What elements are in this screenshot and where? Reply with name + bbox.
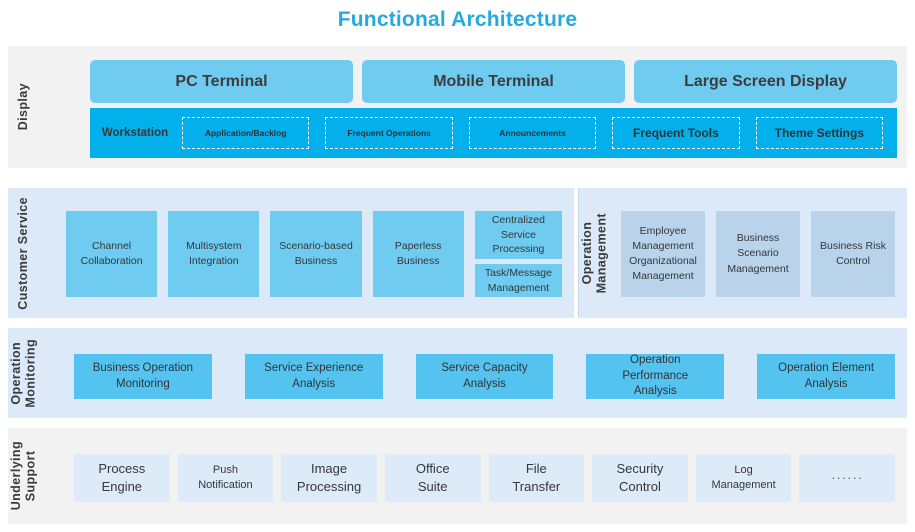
cs-box-centralized-service-processing[interactable]: Centralized ServiceProcessing xyxy=(475,211,562,259)
section-label-customer-service-text: Customer Service xyxy=(16,197,30,310)
section-label-operation-management-text: OperationManagement xyxy=(580,213,609,293)
workstation-item-application-backlog[interactable]: Application/Backlog xyxy=(182,117,309,149)
sup-box-file-transfer[interactable]: FileTransfer xyxy=(489,454,585,502)
om-box-business-scenario-management[interactable]: BusinessScenarioManagement xyxy=(716,211,800,297)
operation-monitoring-row: Business OperationMonitoring Service Exp… xyxy=(74,354,895,399)
section-customer-service: Customer Service ChannelCollaboration Mu… xyxy=(8,188,574,318)
cs-box-task-message-management[interactable]: Task/MessageManagement xyxy=(475,264,562,297)
terminal-row: PC Terminal Mobile Terminal Large Screen… xyxy=(90,60,897,103)
mon-box-business-operation-monitoring[interactable]: Business OperationMonitoring xyxy=(74,354,212,399)
section-customer-service-body: ChannelCollaboration MultisystemIntegrat… xyxy=(38,188,574,318)
section-label-customer-service: Customer Service xyxy=(8,188,38,318)
cs-box-paperless-business[interactable]: PaperlessBusiness xyxy=(373,211,464,297)
section-underlying-support-body: ProcessEngine PushNotification ImageProc… xyxy=(38,428,907,524)
workstation-item-frequent-operations[interactable]: Frequent Operations xyxy=(325,117,452,149)
section-operation-monitoring-body: Business OperationMonitoring Service Exp… xyxy=(38,328,907,418)
mon-box-operation-element-analysis[interactable]: Operation ElementAnalysis xyxy=(757,354,895,399)
terminal-box-large-screen[interactable]: Large Screen Display xyxy=(634,60,897,103)
section-label-underlying-support: UnderlyingSupport xyxy=(8,428,38,524)
underlying-support-row: ProcessEngine PushNotification ImageProc… xyxy=(74,454,895,502)
sup-box-office-suite[interactable]: OfficeSuite xyxy=(385,454,481,502)
section-underlying-support: UnderlyingSupport ProcessEngine PushNoti… xyxy=(8,428,907,524)
workstation-item-announcements[interactable]: Announcements xyxy=(469,117,596,149)
section-label-operation-monitoring-text: OperationMonitoring xyxy=(9,339,38,408)
cs-stacked-group: Centralized ServiceProcessing Task/Messa… xyxy=(475,211,562,297)
workstation-item-frequent-tools[interactable]: Frequent Tools xyxy=(612,117,739,149)
mon-box-service-capacity-analysis[interactable]: Service CapacityAnalysis xyxy=(416,354,554,399)
sup-box-more-ellipsis[interactable]: ······ xyxy=(799,454,895,502)
section-label-underlying-support-text: UnderlyingSupport xyxy=(9,441,38,510)
section-label-display: Display xyxy=(8,46,38,168)
section-operation-management: OperationManagement EmployeeManagementOr… xyxy=(578,188,907,318)
terminal-box-pc[interactable]: PC Terminal xyxy=(90,60,353,103)
customer-service-row: ChannelCollaboration MultisystemIntegrat… xyxy=(66,211,562,297)
workstation-item-theme-settings[interactable]: Theme Settings xyxy=(756,117,883,149)
om-box-business-risk-control[interactable]: Business RiskControl xyxy=(811,211,895,297)
sup-box-push-notification[interactable]: PushNotification xyxy=(178,454,274,502)
cs-box-channel-collaboration[interactable]: ChannelCollaboration xyxy=(66,211,157,297)
section-display-body: PC Terminal Mobile Terminal Large Screen… xyxy=(38,46,907,168)
section-operation-monitoring: OperationMonitoring Business OperationMo… xyxy=(8,328,907,418)
cs-box-scenario-based-business[interactable]: Scenario-basedBusiness xyxy=(270,211,361,297)
om-box-employee-management[interactable]: EmployeeManagementOrganizationalManageme… xyxy=(621,211,705,297)
operation-management-row: EmployeeManagementOrganizationalManageme… xyxy=(621,211,895,297)
section-operation-management-body: EmployeeManagementOrganizationalManageme… xyxy=(609,188,907,318)
sup-box-image-processing[interactable]: ImageProcessing xyxy=(281,454,377,502)
section-display: Display PC Terminal Mobile Terminal Larg… xyxy=(8,46,907,168)
sup-box-process-engine[interactable]: ProcessEngine xyxy=(74,454,170,502)
workstation-bar: Workstation Application/Backlog Frequent… xyxy=(90,108,897,158)
workstation-label: Workstation xyxy=(96,127,174,139)
mon-box-service-experience-analysis[interactable]: Service ExperienceAnalysis xyxy=(245,354,383,399)
sup-box-security-control[interactable]: SecurityControl xyxy=(592,454,688,502)
sup-box-log-management[interactable]: LogManagement xyxy=(696,454,792,502)
functional-architecture-diagram: Functional Architecture Display PC Termi… xyxy=(0,0,915,532)
mon-box-operation-performance-analysis[interactable]: OperationPerformanceAnalysis xyxy=(586,354,724,399)
section-label-operation-management: OperationManagement xyxy=(579,188,609,318)
section-label-display-text: Display xyxy=(16,83,30,130)
page-title: Functional Architecture xyxy=(0,8,915,32)
terminal-box-mobile[interactable]: Mobile Terminal xyxy=(362,60,625,103)
cs-box-multisystem-integration[interactable]: MultisystemIntegration xyxy=(168,211,259,297)
section-label-operation-monitoring: OperationMonitoring xyxy=(8,328,38,418)
